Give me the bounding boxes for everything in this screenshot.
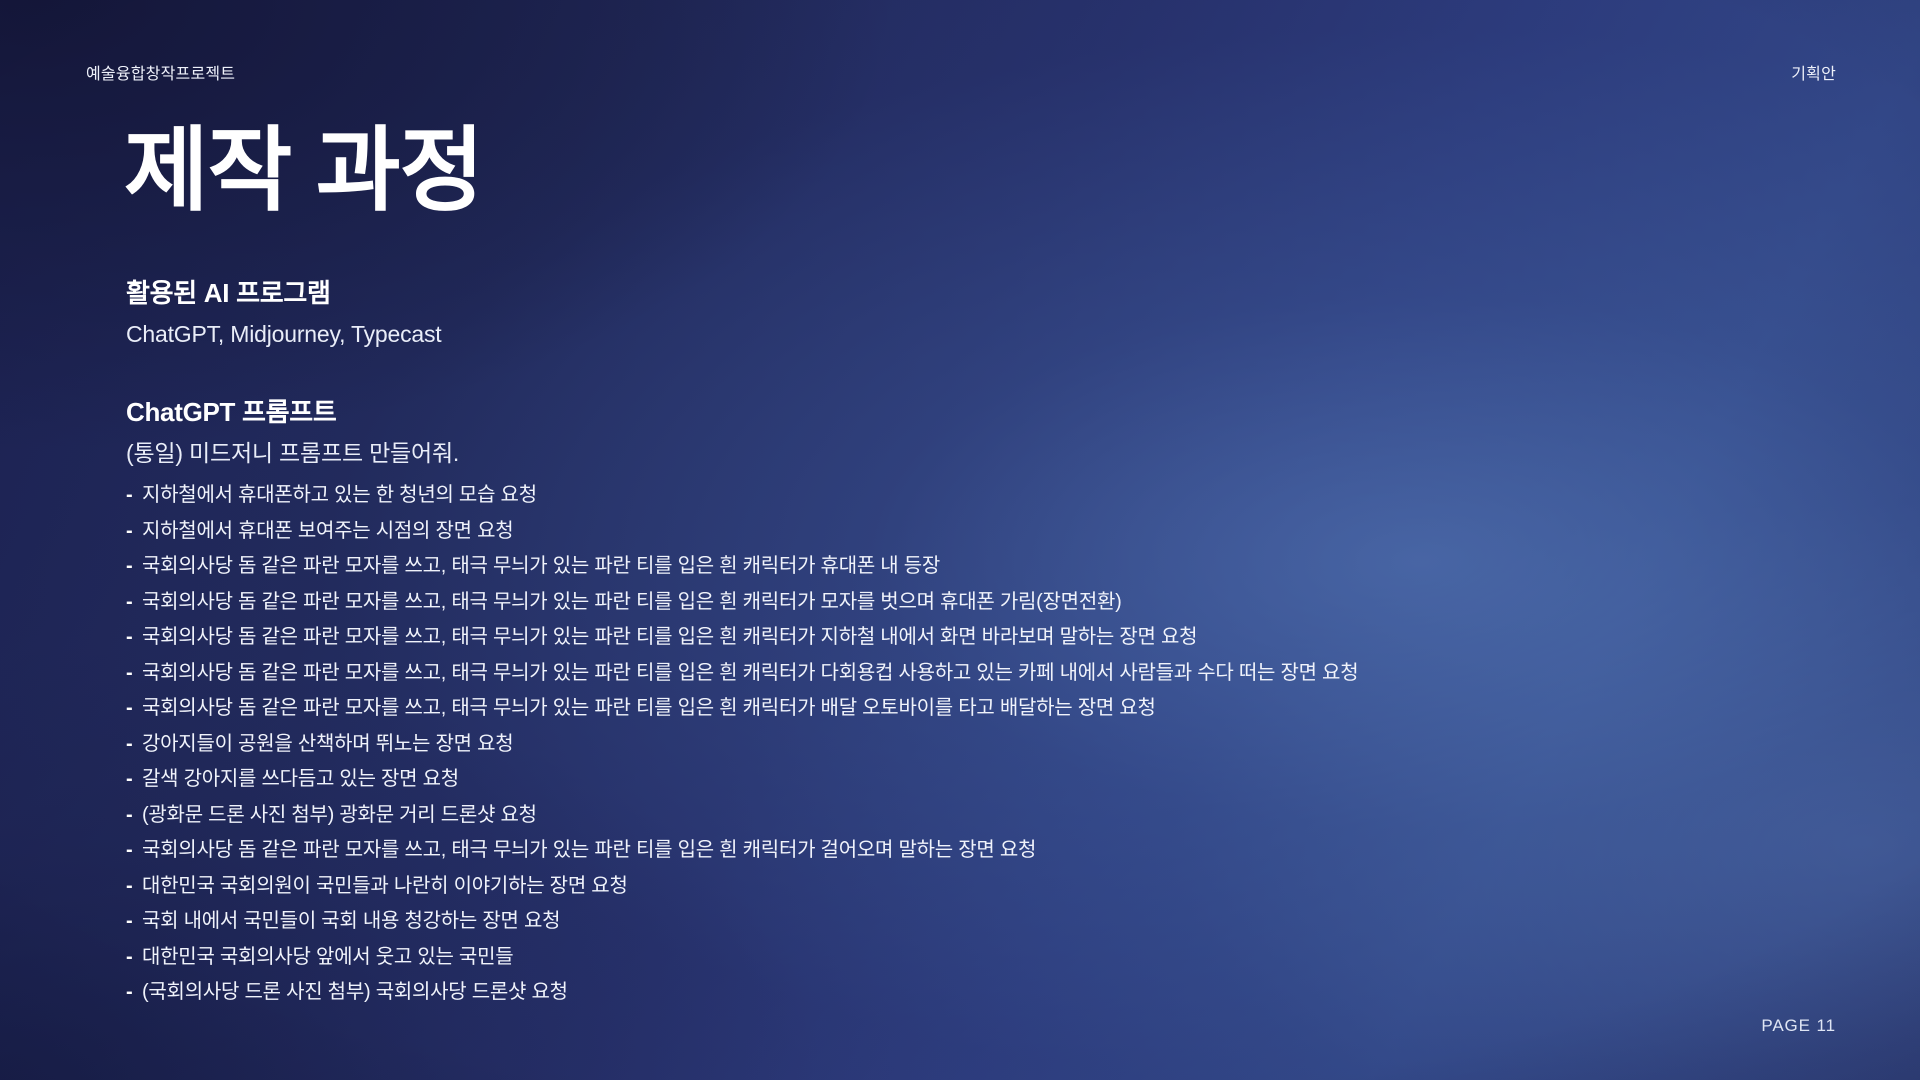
prompt-list-item-text: 국회의사당 돔 같은 파란 모자를 쓰고, 태극 무늬가 있는 파란 티를 입은… [142, 833, 1036, 862]
prompt-bullet-dash-icon: - [126, 591, 142, 614]
prompt-list-item-text: 국회의사당 돔 같은 파란 모자를 쓰고, 태극 무늬가 있는 파란 티를 입은… [142, 585, 1122, 614]
prompt-bullet-dash-icon: - [126, 697, 142, 720]
prompt-list-item: -국회의사당 돔 같은 파란 모자를 쓰고, 태극 무늬가 있는 파란 티를 입… [126, 833, 1358, 869]
prompt-bullet-dash-icon: - [126, 910, 142, 933]
prompt-list-item-text: (국회의사당 드론 사진 첨부) 국회의사당 드론샷 요청 [142, 975, 568, 1004]
prompt-list-item: -지하철에서 휴대폰하고 있는 한 청년의 모습 요청 [126, 478, 1358, 514]
slide-canvas: 예술융합창작프로젝트 기획안 제작 과정 활용된 AI 프로그램 ChatGPT… [0, 0, 1920, 1080]
prompt-list-item: -(국회의사당 드론 사진 첨부) 국회의사당 드론샷 요청 [126, 975, 1358, 1011]
prompt-list-item: -지하철에서 휴대폰 보여주는 시점의 장면 요청 [126, 514, 1358, 550]
prompt-list-item-text: 국회의사당 돔 같은 파란 모자를 쓰고, 태극 무늬가 있는 파란 티를 입은… [142, 620, 1197, 649]
prompt-bullet-dash-icon: - [126, 839, 142, 862]
prompt-list-item: -갈색 강아지를 쓰다듬고 있는 장면 요청 [126, 762, 1358, 798]
prompt-bullet-dash-icon: - [126, 555, 142, 578]
prompt-list-item: -국회의사당 돔 같은 파란 모자를 쓰고, 태극 무늬가 있는 파란 티를 입… [126, 691, 1358, 727]
header-document-type-label: 기획안 [1791, 60, 1836, 84]
slide-content: 예술융합창작프로젝트 기획안 제작 과정 활용된 AI 프로그램 ChatGPT… [0, 0, 1920, 1080]
page-number: PAGE 11 [1761, 1016, 1836, 1036]
prompt-list-item-text: 지하철에서 휴대폰하고 있는 한 청년의 모습 요청 [142, 478, 537, 507]
prompt-bullet-dash-icon: - [126, 946, 142, 969]
section-chatgpt-prompt: ChatGPT 프롬프트 (통일) 미드저니 프롬프트 만들어줘. [126, 396, 459, 469]
prompt-list-item: -국회 내에서 국민들이 국회 내용 청강하는 장면 요청 [126, 904, 1358, 940]
prompt-list-item-text: 갈색 강아지를 쓰다듬고 있는 장면 요청 [142, 762, 459, 791]
section-ai-programs-body: ChatGPT, Midjourney, Typecast [126, 320, 442, 350]
prompt-bullet-dash-icon: - [126, 484, 142, 507]
prompt-list-item-text: 강아지들이 공원을 산책하며 뛰노는 장면 요청 [142, 727, 513, 756]
section-ai-programs: 활용된 AI 프로그램 ChatGPT, Midjourney, Typecas… [126, 277, 442, 350]
page-title: 제작 과정 [124, 122, 483, 221]
prompt-bullet-dash-icon: - [126, 733, 142, 756]
prompt-list-item: -대한민국 국회의원이 국민들과 나란히 이야기하는 장면 요청 [126, 869, 1358, 905]
prompt-bullet-dash-icon: - [126, 768, 142, 791]
header-project-label: 예술융합창작프로젝트 [86, 60, 235, 84]
prompt-list-item: -국회의사당 돔 같은 파란 모자를 쓰고, 태극 무늬가 있는 파란 티를 입… [126, 656, 1358, 692]
prompt-list-item: -대한민국 국회의사당 앞에서 웃고 있는 국민들 [126, 940, 1358, 976]
prompt-list-item: -(광화문 드론 사진 첨부) 광화문 거리 드론샷 요청 [126, 798, 1358, 834]
prompt-bullet-dash-icon: - [126, 662, 142, 685]
prompt-list-item-text: 대한민국 국회의사당 앞에서 웃고 있는 국민들 [142, 940, 513, 969]
prompt-list-item-text: 국회의사당 돔 같은 파란 모자를 쓰고, 태극 무늬가 있는 파란 티를 입은… [142, 656, 1358, 685]
prompt-list-item: -국회의사당 돔 같은 파란 모자를 쓰고, 태극 무늬가 있는 파란 티를 입… [126, 585, 1358, 621]
prompt-bullet-dash-icon: - [126, 804, 142, 827]
prompt-list-item-text: 국회 내에서 국민들이 국회 내용 청강하는 장면 요청 [142, 904, 560, 933]
prompt-list-item-text: 대한민국 국회의원이 국민들과 나란히 이야기하는 장면 요청 [142, 869, 628, 898]
prompt-list-item-text: (광화문 드론 사진 첨부) 광화문 거리 드론샷 요청 [142, 798, 537, 827]
prompt-list-item-text: 국회의사당 돔 같은 파란 모자를 쓰고, 태극 무늬가 있는 파란 티를 입은… [142, 691, 1156, 720]
prompt-list-item-text: 지하철에서 휴대폰 보여주는 시점의 장면 요청 [142, 514, 513, 543]
prompt-list-item-text: 국회의사당 돔 같은 파란 모자를 쓰고, 태극 무늬가 있는 파란 티를 입은… [142, 549, 940, 578]
prompt-bullet-dash-icon: - [126, 875, 142, 898]
section-chatgpt-prompt-body: (통일) 미드저니 프롬프트 만들어줘. [126, 439, 459, 469]
section-ai-programs-heading: 활용된 AI 프로그램 [126, 277, 442, 311]
prompt-bullet-dash-icon: - [126, 626, 142, 649]
prompt-list: -지하철에서 휴대폰하고 있는 한 청년의 모습 요청-지하철에서 휴대폰 보여… [126, 478, 1358, 1011]
prompt-list-item: -강아지들이 공원을 산책하며 뛰노는 장면 요청 [126, 727, 1358, 763]
prompt-list-item: -국회의사당 돔 같은 파란 모자를 쓰고, 태극 무늬가 있는 파란 티를 입… [126, 549, 1358, 585]
prompt-bullet-dash-icon: - [126, 981, 142, 1004]
prompt-list-item: -국회의사당 돔 같은 파란 모자를 쓰고, 태극 무늬가 있는 파란 티를 입… [126, 620, 1358, 656]
section-chatgpt-prompt-heading: ChatGPT 프롬프트 [126, 396, 459, 430]
prompt-bullet-dash-icon: - [126, 520, 142, 543]
